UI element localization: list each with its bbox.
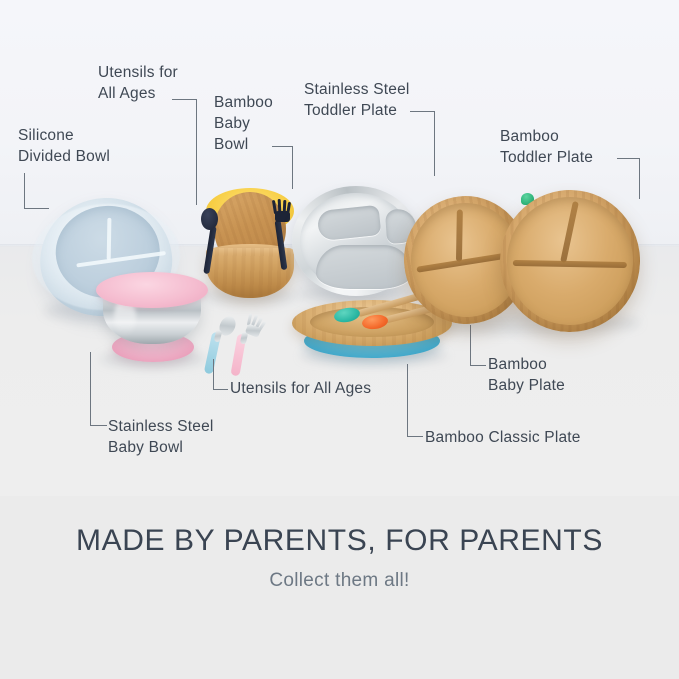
leader-stainless-steel-baby-bowl xyxy=(90,352,108,427)
silicone-bowl-divider-horizontal xyxy=(76,251,166,267)
bamboo-baby-plate-divider-vertical xyxy=(456,210,463,262)
bamboo-toddler-plate-divider-horizontal xyxy=(513,260,627,268)
callout-label-bamboo-baby-bowl: Bamboo Baby Bowl xyxy=(214,92,273,155)
bamboo-toddler-plate-divider-vertical xyxy=(560,201,579,263)
product-stainless-steel-toddler-plate xyxy=(292,186,420,296)
callout-label-utensils-for-all-ages-bottom: Utensils for All Ages xyxy=(230,378,371,399)
callout-label-bamboo-baby-plate: Bamboo Baby Plate xyxy=(488,354,565,396)
silicone-bowl-divider-vertical xyxy=(107,218,112,260)
leader-bamboo-classic-plate xyxy=(407,364,424,438)
ss-toddler-plate-section-1 xyxy=(317,205,382,241)
leader-utensils-for-all-ages-top xyxy=(172,99,198,206)
ss-toddler-plate-section-3 xyxy=(316,245,412,289)
leader-stainless-steel-toddler-plate xyxy=(410,111,436,177)
product-collage: Silicone Divided Bowl Utensils for All A… xyxy=(0,0,679,679)
callout-label-silicone-divided-bowl: Silicone Divided Bowl xyxy=(18,125,110,167)
footer-subline: Collect them all! xyxy=(0,570,679,592)
navy-spoon-bowl xyxy=(201,208,218,230)
callout-label-bamboo-toddler-plate: Bamboo Toddler Plate xyxy=(500,126,593,168)
leader-bamboo-toddler-plate xyxy=(617,158,641,200)
leader-silicone-divided-bowl xyxy=(24,173,50,210)
leader-bamboo-baby-bowl xyxy=(272,146,294,190)
callout-label-stainless-steel-toddler-plate: Stainless Steel Toddler Plate xyxy=(304,79,410,121)
leader-utensils-for-all-ages-bottom xyxy=(213,359,229,391)
callout-label-utensils-for-all-ages-top: Utensils for All Ages xyxy=(98,62,178,104)
navy-fork-head xyxy=(273,200,291,220)
navy-fork-base xyxy=(275,211,290,222)
ss-toddler-plate-inner xyxy=(300,193,412,289)
footer-headline: MADE BY PARENTS, FOR PARENTS xyxy=(0,524,679,558)
leader-bamboo-baby-plate xyxy=(470,325,487,367)
ss-baby-bowl-pink-rim xyxy=(96,272,208,308)
callout-label-bamboo-classic-plate: Bamboo Classic Plate xyxy=(425,427,581,448)
callout-label-stainless-steel-baby-bowl: Stainless Steel Baby Bowl xyxy=(108,416,214,458)
product-stainless-steel-baby-bowl xyxy=(96,272,208,368)
